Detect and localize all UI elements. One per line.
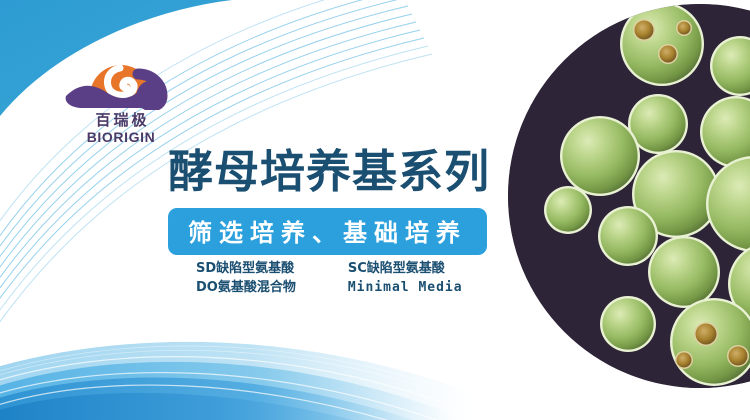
yeast-cell: [622, 4, 701, 83]
yeast-cell: [562, 118, 637, 193]
subtitle-badge: 筛选培养、基础培养: [168, 208, 487, 255]
product-list: SD缺陷型氨基酸 DO氨基酸混合物 SC缺陷型氨基酸 Minimal Media: [196, 259, 463, 297]
bud-scar: [696, 324, 717, 345]
bud-scar: [729, 347, 748, 366]
bud-scar: [678, 22, 691, 35]
logo-chinese-name: 百瑞极: [62, 112, 180, 129]
bud-scar: [635, 21, 654, 40]
product-item: SC缺陷型氨基酸: [348, 259, 463, 278]
bud-scar: [660, 46, 677, 63]
product-item: SD缺陷型氨基酸: [196, 259, 296, 278]
product-column-2: SC缺陷型氨基酸 Minimal Media: [348, 259, 463, 297]
yeast-cell: [600, 208, 655, 263]
product-item: Minimal Media: [348, 278, 463, 297]
page-title: 酵母培养基系列: [168, 144, 568, 200]
bottom-wave-group: [0, 342, 470, 420]
yeast-cell: [650, 238, 717, 305]
headline-block: 酵母培养基系列 筛选培养、基础培养: [168, 144, 568, 255]
logo-english-name: BIORIGIN: [62, 129, 180, 145]
product-column-1: SD缺陷型氨基酸 DO氨基酸混合物: [196, 259, 296, 297]
biorigin-logo: 百瑞极 BIORIGIN: [62, 52, 180, 144]
bud-scar: [677, 353, 692, 368]
product-banner: 百瑞极 BIORIGIN 酵母培养基系列 筛选培养、基础培养 SD缺陷型氨基酸 …: [0, 0, 750, 420]
yeast-cell: [602, 298, 653, 349]
logo-mark-icon: [62, 52, 180, 110]
product-item: DO氨基酸混合物: [196, 278, 296, 297]
yeast-cell: [630, 96, 685, 151]
